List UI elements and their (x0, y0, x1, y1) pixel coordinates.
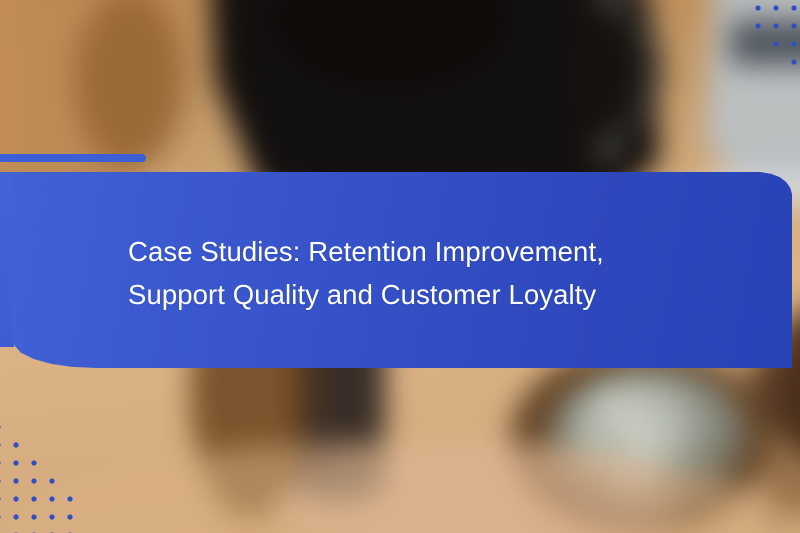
card-content: Case Studies: Retention Improvement, Sup… (0, 172, 792, 374)
title-card: Case Studies: Retention Improvement, Sup… (0, 172, 792, 374)
accent-bar (0, 154, 146, 162)
page-title: Case Studies: Retention Improvement, Sup… (128, 230, 732, 316)
